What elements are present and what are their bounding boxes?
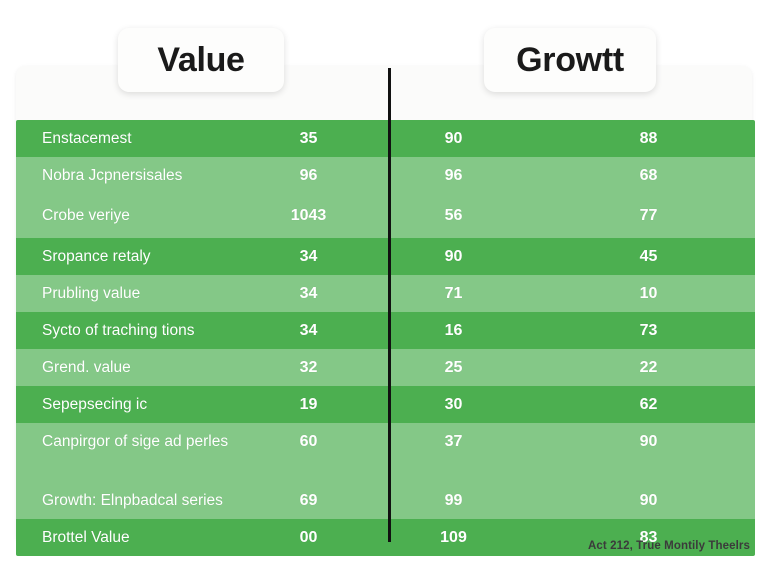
row-value-2: 37 [356,433,551,451]
row-value-2: 71 [356,285,551,303]
row-value-1: 34 [261,248,356,266]
row-label: Growth: Elnpbadcal series [16,492,261,510]
row-value-1: 19 [261,396,356,414]
row-value-2: 109 [356,529,551,547]
row-value-3: 88 [551,130,746,148]
table-row[interactable]: Growth: Elnpbadcal series699990 [16,482,755,519]
column-header-value[interactable]: Value [118,28,284,92]
row-label: Prubling value [16,285,261,303]
row-label: Grend. value [16,359,261,377]
table-row[interactable]: Nobra Jcpnersisales969668 [16,157,755,194]
vertical-divider [388,68,391,542]
column-header-growth[interactable]: Growtt [484,28,656,92]
row-value-1: 1043 [261,207,356,225]
row-value-3: 68 [551,167,746,185]
table-row[interactable]: Crobe veriye10435677 [16,194,755,238]
row-value-3: 22 [551,359,746,377]
row-label: Sycto of traching tions [16,322,261,340]
footer-note: Act 212, True Montily Theelrs [588,540,750,552]
row-value-2: 90 [356,130,551,148]
data-grid: Enstacemest359088Nobra Jcpnersisales9696… [16,120,755,556]
table-row-spacer [16,460,755,482]
row-label: Sepepsecing ic [16,396,261,414]
row-value-3: 62 [551,396,746,414]
row-label: Brottel Value [16,529,261,547]
row-value-2: 30 [356,396,551,414]
row-value-3: 73 [551,322,746,340]
table-row[interactable]: Canpirgor of sige ad perles603790 [16,423,755,460]
row-label: Sropance retaly [16,248,261,266]
row-value-3: 45 [551,248,746,266]
row-value-1: 96 [261,167,356,185]
table-row[interactable]: Prubling value347110 [16,275,755,312]
row-value-2: 99 [356,492,551,510]
row-value-1: 35 [261,130,356,148]
row-value-1: 00 [261,529,356,547]
table-row[interactable]: Sycto of traching tions341673 [16,312,755,349]
row-value-3: 77 [551,207,746,225]
row-label: Nobra Jcpnersisales [16,167,261,185]
row-value-2: 25 [356,359,551,377]
row-value-3: 10 [551,285,746,303]
column-header-growth-label: Growtt [516,41,624,80]
table-row[interactable]: Grend. value322522 [16,349,755,386]
row-label: Enstacemest [16,130,261,148]
row-value-1: 32 [261,359,356,377]
row-value-2: 90 [356,248,551,266]
row-value-1: 34 [261,322,356,340]
row-value-1: 60 [261,433,356,451]
row-value-3: 90 [551,492,746,510]
screenshot-root: Value Growtt Enstacemest359088Nobra Jcpn… [0,0,768,576]
column-header-value-label: Value [157,41,244,80]
row-value-2: 16 [356,322,551,340]
row-value-2: 56 [356,207,551,225]
table-row[interactable]: Enstacemest359088 [16,120,755,157]
table-row[interactable]: Sepepsecing ic193062 [16,386,755,423]
row-label: Crobe veriye [16,207,261,225]
row-label: Canpirgor of sige ad perles [16,433,261,451]
row-value-1: 34 [261,285,356,303]
table-row[interactable]: Sropance retaly349045 [16,238,755,275]
row-value-3: 90 [551,433,746,451]
row-value-1: 69 [261,492,356,510]
row-value-2: 96 [356,167,551,185]
